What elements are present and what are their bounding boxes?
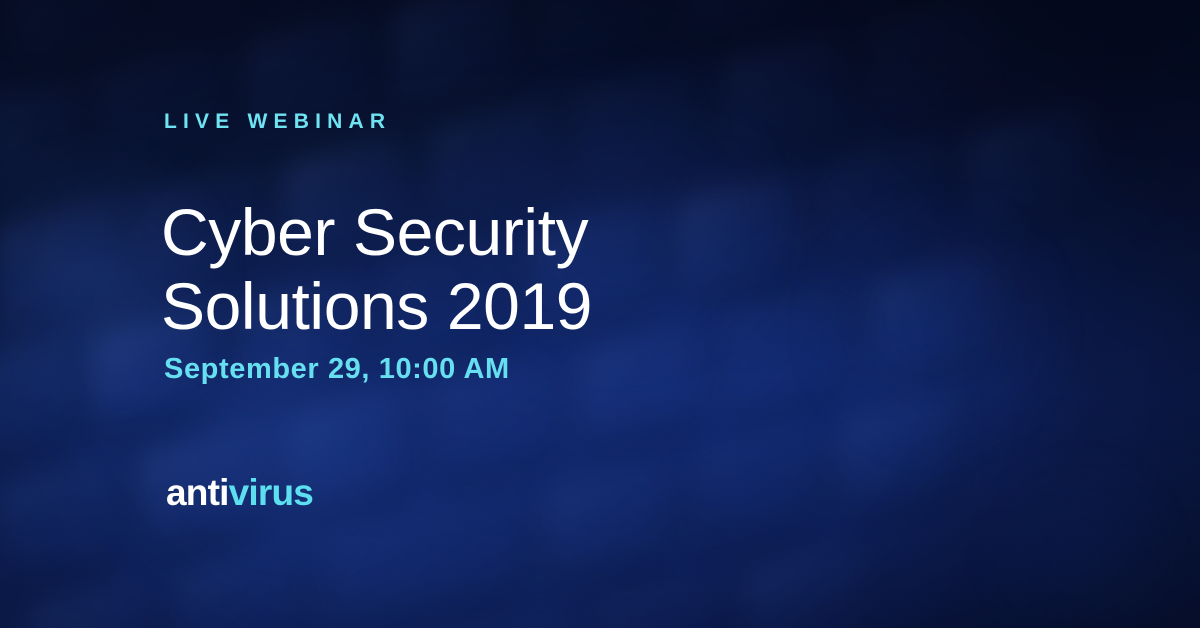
keycap	[0, 343, 74, 467]
page-title: Cyber Security Solutions 2019	[161, 196, 761, 344]
webinar-promo-banner: W V	[0, 0, 1200, 628]
event-datetime: September 29, 10:00 AM	[164, 353, 510, 386]
headline-line-1: Cyber Security	[161, 196, 761, 270]
keycap	[966, 107, 1097, 231]
keycap	[865, 1, 996, 125]
eyebrow-label: LIVE WEBINAR	[164, 110, 391, 134]
keycap	[835, 396, 966, 520]
brand-logo: antivirus	[166, 472, 313, 514]
keycap-glyph: V	[0, 119, 31, 170]
keycap	[7, 0, 138, 65]
keycap: V	[0, 83, 81, 207]
banner-content: LIVE WEBINAR Cyber Security Solutions 20…	[164, 0, 784, 628]
keycap	[820, 141, 951, 265]
keycap	[0, 617, 9, 628]
keycap	[868, 259, 999, 383]
brand-logo-accent-text: virus	[229, 472, 313, 513]
keycap-glyph: G	[36, 239, 72, 291]
keycap-glyph: H	[73, 619, 107, 628]
keycap: H	[24, 583, 155, 628]
keycap	[0, 461, 122, 585]
brand-logo-primary-text: anti	[166, 472, 229, 513]
keycap: G	[0, 203, 119, 327]
headline-line-2: Solutions 2019	[161, 270, 761, 344]
keycap	[827, 0, 958, 5]
